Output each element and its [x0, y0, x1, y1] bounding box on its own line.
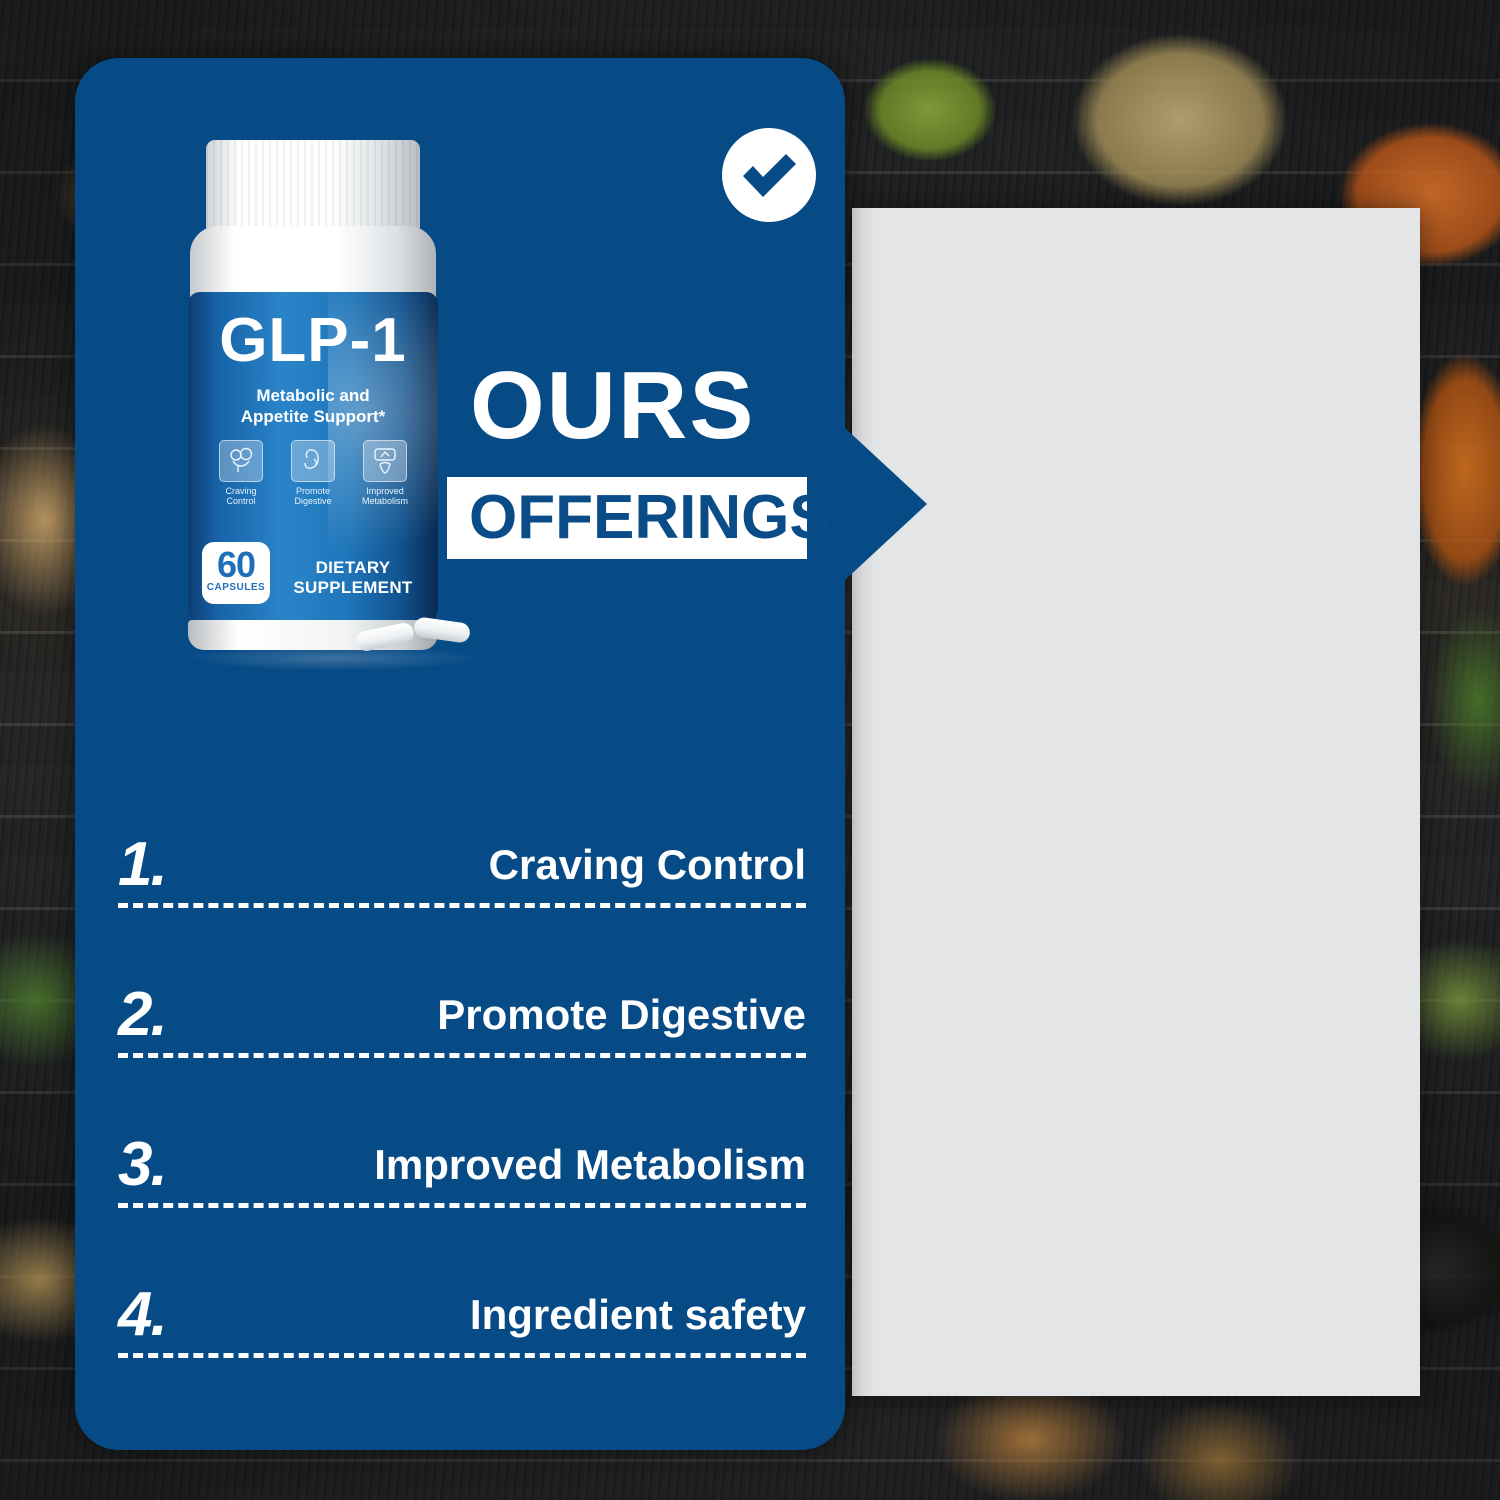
bottle-benefit-icons: Craving Control Promote Digestive [210, 440, 416, 507]
list-item-number: 4. [118, 1284, 166, 1346]
list-item-label: Ingredient safety [470, 1293, 806, 1338]
list-item: 2. Promote Digestive [118, 922, 806, 1072]
benefit-caption-line1: Improved [354, 486, 416, 496]
list-divider [118, 1203, 806, 1208]
list-item-number: 2. [118, 984, 166, 1046]
arrow-pointer-icon [845, 428, 927, 580]
check-circle-icon [722, 128, 816, 222]
brain-craving-icon [219, 440, 263, 482]
list-item: 3. Improved Metabolism [118, 1072, 806, 1222]
metabolism-scale-icon [363, 440, 407, 482]
capsule-count-number: 60 [202, 542, 270, 583]
dietary-supplement-label: DIETARY SUPPLEMENT [278, 558, 428, 598]
bottle-label: GLP-1 Metabolic and Appetite Support* Cr… [188, 292, 438, 632]
ours-list: 1. Craving Control 2. Promote Digestive … [118, 772, 806, 1372]
benefit-promote-digestive: Promote Digestive [282, 440, 344, 507]
benefit-craving-control: Craving Control [210, 440, 272, 507]
benefit-caption: Promote Digestive [282, 486, 344, 507]
offerings-label: OFFERINGS [469, 487, 831, 549]
capsule-count-badge: 60 CAPSULES [202, 542, 270, 604]
stomach-digestive-icon [291, 440, 335, 482]
list-item-label: Promote Digestive [437, 993, 806, 1038]
list-divider [118, 1053, 806, 1058]
bottle-tagline: Metabolic and Appetite Support* [202, 386, 424, 427]
list-divider [118, 1353, 806, 1358]
bottle-cap [206, 140, 420, 232]
benefit-caption: Improved Metabolism [354, 486, 416, 507]
list-item: 1. Craving Control [118, 772, 806, 922]
benefit-improved-metabolism: Improved Metabolism [354, 440, 416, 507]
benefit-caption-line1: Promote [282, 486, 344, 496]
list-item-number: 1. [118, 834, 166, 896]
benefit-caption-line2: Metabolism [354, 496, 416, 506]
benefit-caption-line2: Digestive [282, 496, 344, 506]
comparison-infographic: OTHERS 1. Can't control your diet 2. Doe… [0, 0, 1500, 1500]
benefit-caption: Craving Control [210, 486, 272, 507]
bottle-brand-name: GLP-1 [204, 310, 422, 372]
ours-title: OURS [470, 358, 755, 454]
benefit-caption-line1: Craving [210, 486, 272, 496]
bottle-tagline-line2: Appetite Support* [202, 407, 424, 428]
product-bottle-image: GLP-1 Metabolic and Appetite Support* Cr… [178, 140, 450, 660]
list-item-number: 3. [118, 1134, 166, 1196]
benefit-caption-line2: Control [210, 496, 272, 506]
list-item-label: Improved Metabolism [374, 1143, 806, 1188]
list-divider [118, 903, 806, 908]
others-panel: OTHERS 1. Can't control your diet 2. Doe… [852, 208, 1420, 1396]
capsule-count-unit: CAPSULES [202, 583, 270, 593]
bottle-tagline-line1: Metabolic and [202, 386, 424, 407]
list-item-label: Craving Control [489, 843, 806, 888]
offerings-banner: OFFERINGS [447, 477, 807, 559]
list-item: 4. Ingredient safety [118, 1222, 806, 1372]
